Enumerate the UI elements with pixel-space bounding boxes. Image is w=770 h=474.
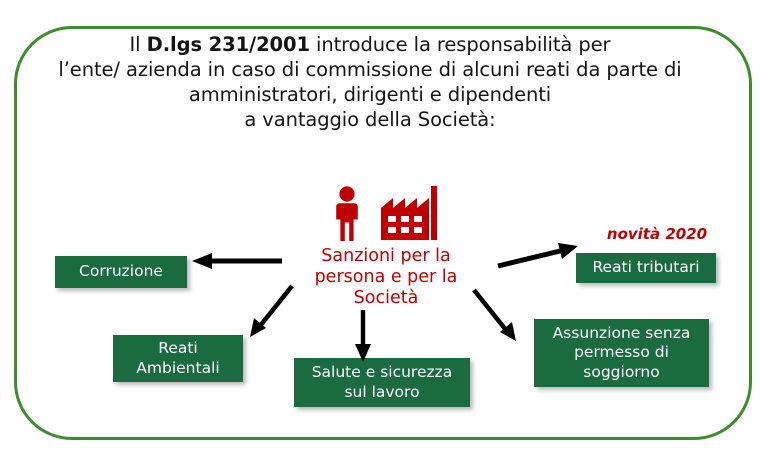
center-icon-row	[286, 184, 486, 242]
novita-2020-badge: novità 2020	[592, 225, 722, 243]
heading-line-1-suffix: introduce la responsabilità per	[310, 33, 611, 56]
heading-decree-reference: D.lgs 231/2001	[147, 33, 310, 56]
arrow-to-reati-tributari	[496, 240, 580, 272]
center-label-line-2: persona e per la	[286, 267, 486, 288]
heading-line-3: amministratori, dirigenti e dipendenti	[20, 82, 720, 107]
center-label-line-3: Società	[286, 288, 486, 309]
box-salute-sicurezza-line-1: Salute e sicurezza	[312, 363, 453, 383]
box-corruzione-line-1: Corruzione	[79, 262, 163, 282]
person-icon	[331, 186, 363, 242]
box-reati-ambientali-line-2: Ambientali	[136, 359, 219, 379]
box-assunzione-line-2: permesso di	[553, 343, 691, 363]
box-reati-ambientali-text: Reati Ambientali	[136, 339, 219, 378]
box-reati-ambientali[interactable]: Reati Ambientali	[113, 335, 243, 382]
box-assunzione[interactable]: Assunzione senza permesso di soggiorno	[534, 319, 709, 387]
slide-heading: Il D.lgs 231/2001 introduce la responsab…	[20, 32, 720, 132]
arrow-to-corruzione	[190, 248, 286, 274]
heading-line-4: a vantaggio della Società:	[20, 107, 720, 132]
box-reati-tributari[interactable]: Reati tributari	[576, 253, 716, 283]
box-assunzione-text: Assunzione senza permesso di soggiorno	[553, 324, 691, 383]
center-label: Sanzioni per la persona e per la Società	[286, 246, 486, 309]
box-assunzione-line-1: Assunzione senza	[553, 324, 691, 344]
box-reati-ambientali-line-1: Reati	[136, 339, 219, 359]
box-assunzione-line-3: soggiorno	[553, 363, 691, 383]
box-corruzione-text: Corruzione	[79, 262, 163, 282]
factory-icon	[379, 186, 441, 242]
heading-line-2: l’ente/ azienda in caso di commissione d…	[20, 57, 720, 82]
box-corruzione[interactable]: Corruzione	[55, 256, 187, 288]
box-salute-sicurezza[interactable]: Salute e sicurezza sul lavoro	[294, 358, 470, 407]
box-reati-tributari-line-1: Reati tributari	[592, 258, 699, 278]
box-salute-sicurezza-text: Salute e sicurezza sul lavoro	[312, 363, 453, 402]
center-cluster: Sanzioni per la persona e per la Società	[286, 184, 486, 309]
arrow-to-assunzione	[468, 286, 526, 344]
heading-line-1: Il D.lgs 231/2001 introduce la responsab…	[20, 32, 720, 57]
heading-line-1-prefix: Il	[130, 33, 147, 56]
arrow-to-reati-ambientali	[242, 282, 298, 340]
box-reati-tributari-text: Reati tributari	[592, 258, 699, 278]
center-label-line-1: Sanzioni per la	[286, 246, 486, 267]
arrow-to-salute-sicurezza	[352, 308, 374, 364]
box-salute-sicurezza-line-2: sul lavoro	[312, 383, 453, 403]
